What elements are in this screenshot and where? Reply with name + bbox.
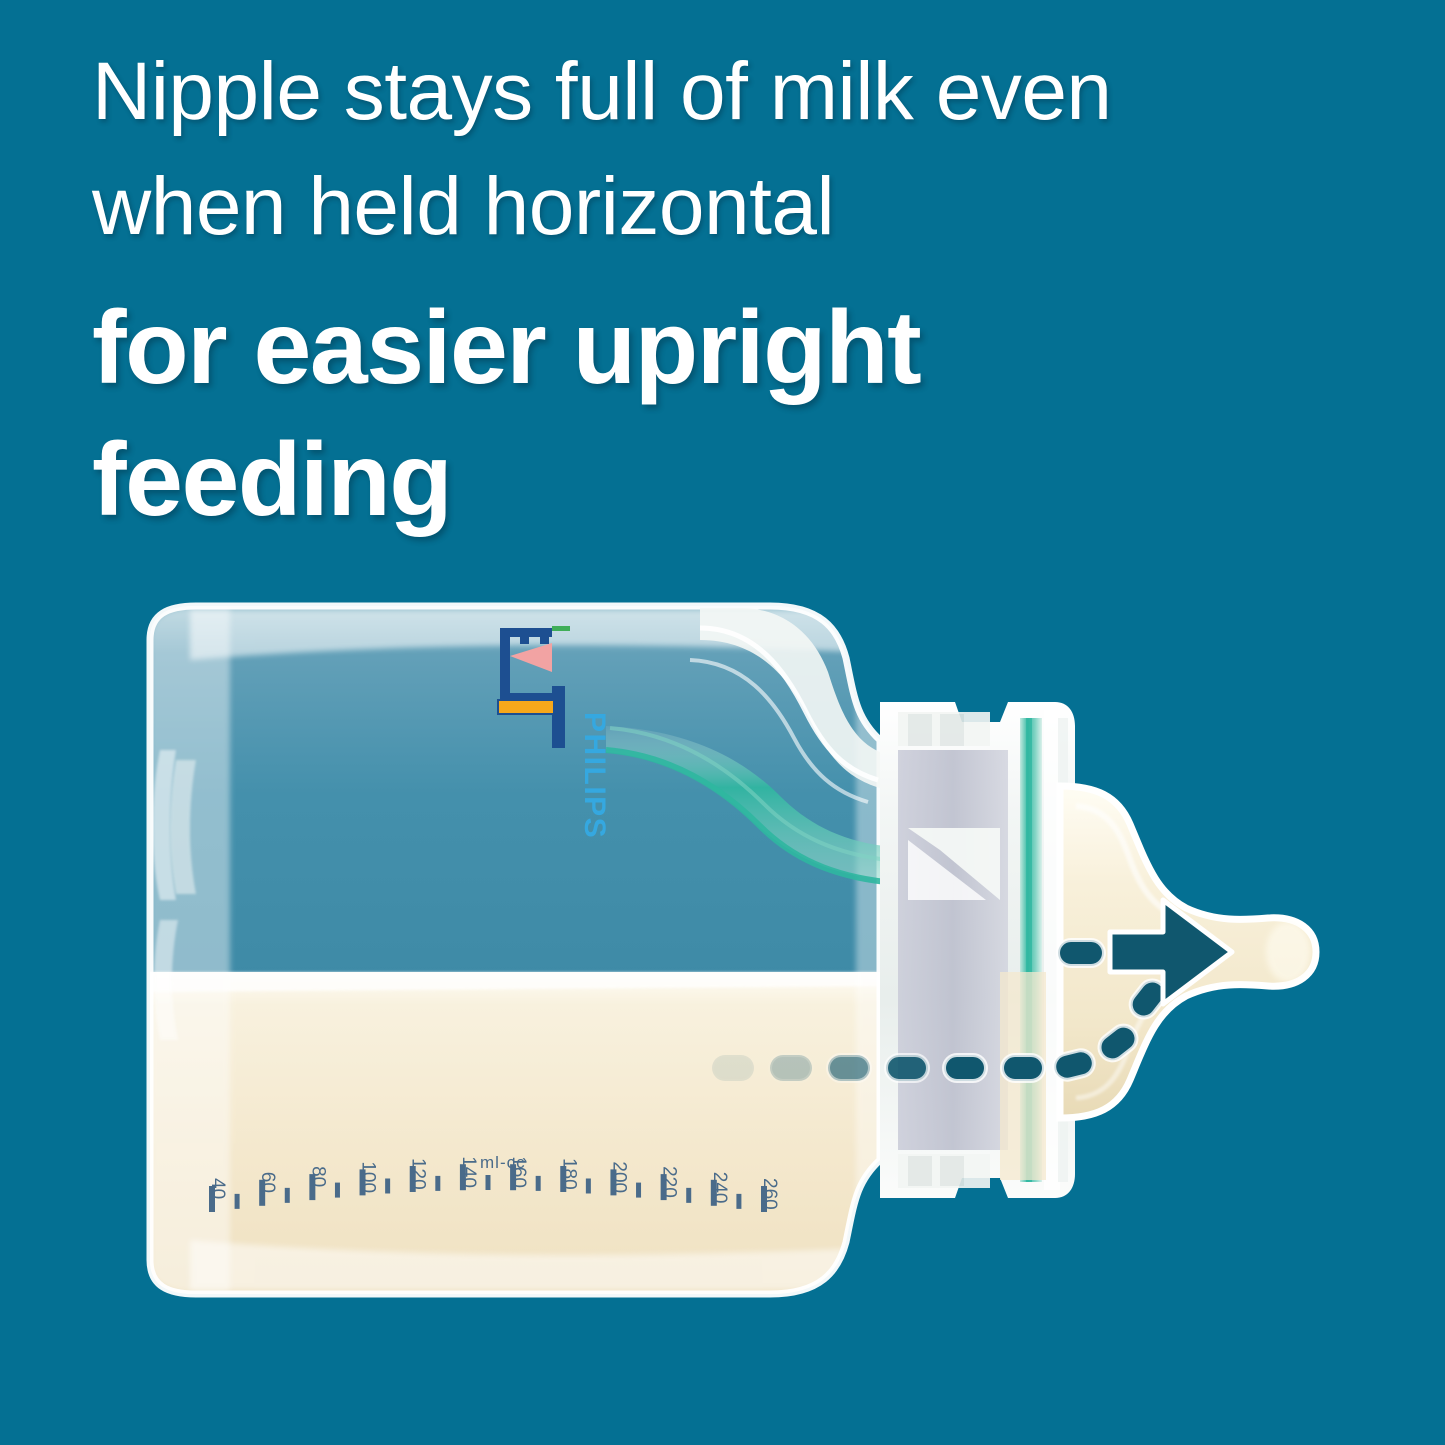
scale-tick-label: 160 (508, 1156, 529, 1188)
marketing-copy-block: Nipple stays full of milk even when held… (92, 34, 1272, 546)
flow-dash (828, 1055, 870, 1081)
flow-dash (770, 1055, 812, 1081)
scale-minor-tick (235, 1194, 240, 1209)
headline-line-1: Nipple stays full of milk even (92, 34, 1272, 149)
philips-wordmark-text: PHILIPS (578, 712, 611, 839)
scale-minor-tick (435, 1176, 440, 1191)
scale-tick-label: 120 (408, 1158, 429, 1190)
scale-minor-tick (385, 1178, 390, 1193)
poster-canvas: Nipple stays full of milk even when held… (0, 0, 1445, 1445)
scale-minor-tick (636, 1183, 641, 1198)
subheadline-block: for easier upright feeding (92, 282, 1272, 546)
scale-tick-label: 240 (709, 1172, 730, 1204)
scale-tick-label: 220 (659, 1166, 680, 1198)
scale-tick-label: 80 (307, 1166, 328, 1187)
scale-minor-tick (686, 1188, 691, 1203)
scale-minor-tick (335, 1183, 340, 1198)
subheadline-line-1: for easier upright (92, 282, 1272, 414)
bottle-collar-ring (880, 702, 1075, 1198)
scale-tick-label: 60 (257, 1172, 278, 1193)
scale-tick-label: 200 (608, 1161, 629, 1193)
scale-tick-label: 40 (207, 1178, 228, 1199)
flow-dash (1002, 1055, 1044, 1081)
scale-tick-label: 100 (358, 1161, 379, 1193)
scale-tick-label: 260 (759, 1178, 780, 1210)
flow-dash (944, 1055, 986, 1081)
subheadline-line-2: feeding (92, 414, 1272, 546)
scale-minor-tick (285, 1188, 290, 1203)
flow-dash (1058, 940, 1104, 966)
scale-minor-tick (536, 1176, 541, 1191)
scale-tick-label: 140 (458, 1156, 479, 1188)
product-illustration: PHILIPS (0, 600, 1445, 1300)
headline-line-2: when held horizontal (92, 149, 1272, 264)
flow-dash (886, 1055, 928, 1081)
scale-minor-tick (736, 1194, 741, 1209)
scale-minor-tick (486, 1175, 491, 1190)
flow-dash (712, 1055, 754, 1081)
scale-minor-tick (586, 1178, 591, 1193)
scale-tick-label: 180 (558, 1158, 579, 1190)
